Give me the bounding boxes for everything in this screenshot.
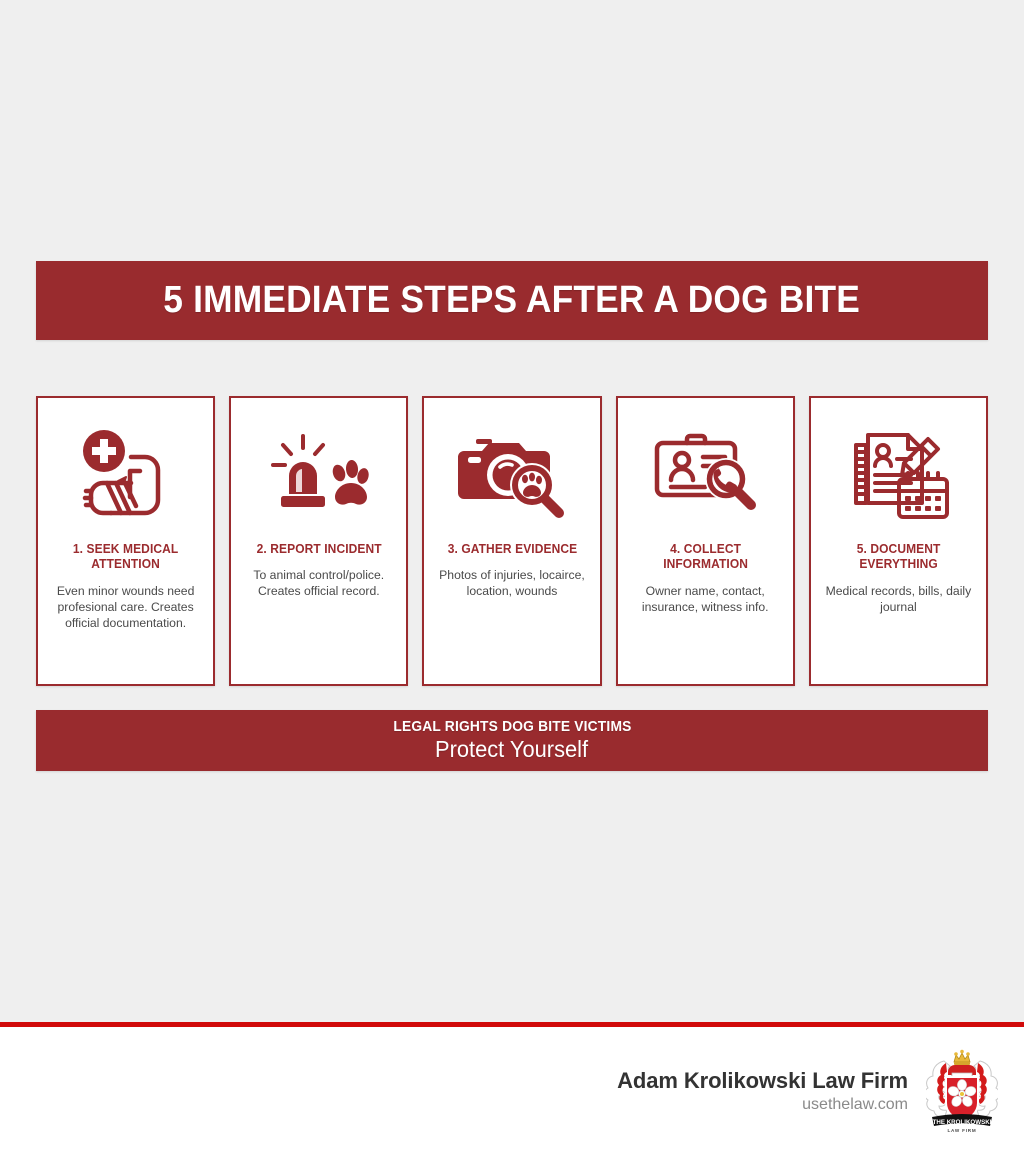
firm-website[interactable]: usethelaw.com	[802, 1096, 908, 1114]
step-card-5-description: Medical records, bills, daily journal	[819, 583, 978, 615]
camera-magnifier-paw-icon	[432, 410, 591, 536]
id-card-magnifier-phone-icon	[626, 410, 785, 536]
step-card-1-title: 1. SEEK MEDICAL ATTENTION	[49, 542, 202, 573]
footer-text-block: Adam Krolikowski Law Firm usethelaw.com	[617, 1068, 908, 1114]
bottom-banner-kicker: LEGAL RIGHTS DOG BITE VICTIMS	[393, 718, 631, 735]
step-card-1[interactable]: 1. SEEK MEDICAL ATTENTION Even minor wou…	[36, 396, 215, 686]
step-card-3-description: Photos of injuries, locairce, location, …	[432, 567, 591, 599]
step-card-5[interactable]: 5. DOCUMENT EVERYTHING Medical records, …	[809, 396, 988, 686]
step-card-2-title: 2. REPORT INCIDENT	[256, 542, 381, 557]
siren-paw-print-icon	[239, 410, 398, 536]
step-card-4-description: Owner name, contact, insurance, witness …	[626, 583, 785, 615]
title-banner: 5 IMMEDIATE STEPS AFTER A DOG BITE	[36, 261, 988, 340]
krolikowski-law-firm-crest-icon: THE KROLIKOWSKI LAW FIRM	[926, 1047, 998, 1135]
crest-banner-line2: LAW FIRM	[947, 1128, 976, 1133]
step-card-4-title: 4. COLLECT INFORMATION	[629, 542, 782, 573]
infographic-canvas: 5 IMMEDIATE STEPS AFTER A DOG BITE	[0, 0, 1024, 1022]
bandaged-arm-medical-cross-icon	[46, 410, 205, 536]
firm-name: Adam Krolikowski Law Firm	[617, 1068, 908, 1094]
step-card-1-description: Even minor wounds need profesional care.…	[46, 583, 205, 632]
steps-card-row: 1. SEEK MEDICAL ATTENTION Even minor wou…	[36, 396, 988, 686]
documents-pencil-calendar-icon	[819, 410, 978, 536]
step-card-3[interactable]: 3. GATHER EVIDENCE Photos of injuries, l…	[422, 396, 601, 686]
step-card-5-title: 5. DOCUMENT EVERYTHING	[822, 542, 975, 573]
step-card-4[interactable]: 4. COLLECT INFORMATION Owner name, conta…	[616, 396, 795, 686]
step-card-3-title: 3. GATHER EVIDENCE	[447, 542, 577, 557]
step-card-2-description: To animal control/police. Creates offici…	[239, 567, 398, 599]
step-card-2[interactable]: 2. REPORT INCIDENT To animal control/pol…	[229, 396, 408, 686]
bottom-banner-headline: Protect Yourself	[435, 736, 588, 763]
infographic-page: 5 IMMEDIATE STEPS AFTER A DOG BITE	[0, 0, 1024, 1154]
bottom-banner: LEGAL RIGHTS DOG BITE VICTIMS Protect Yo…	[36, 710, 988, 771]
page-title: 5 IMMEDIATE STEPS AFTER A DOG BITE	[164, 279, 861, 322]
footer: Adam Krolikowski Law Firm usethelaw.com	[0, 1027, 1024, 1154]
crest-banner-line1: THE KROLIKOWSKI	[933, 1119, 992, 1126]
